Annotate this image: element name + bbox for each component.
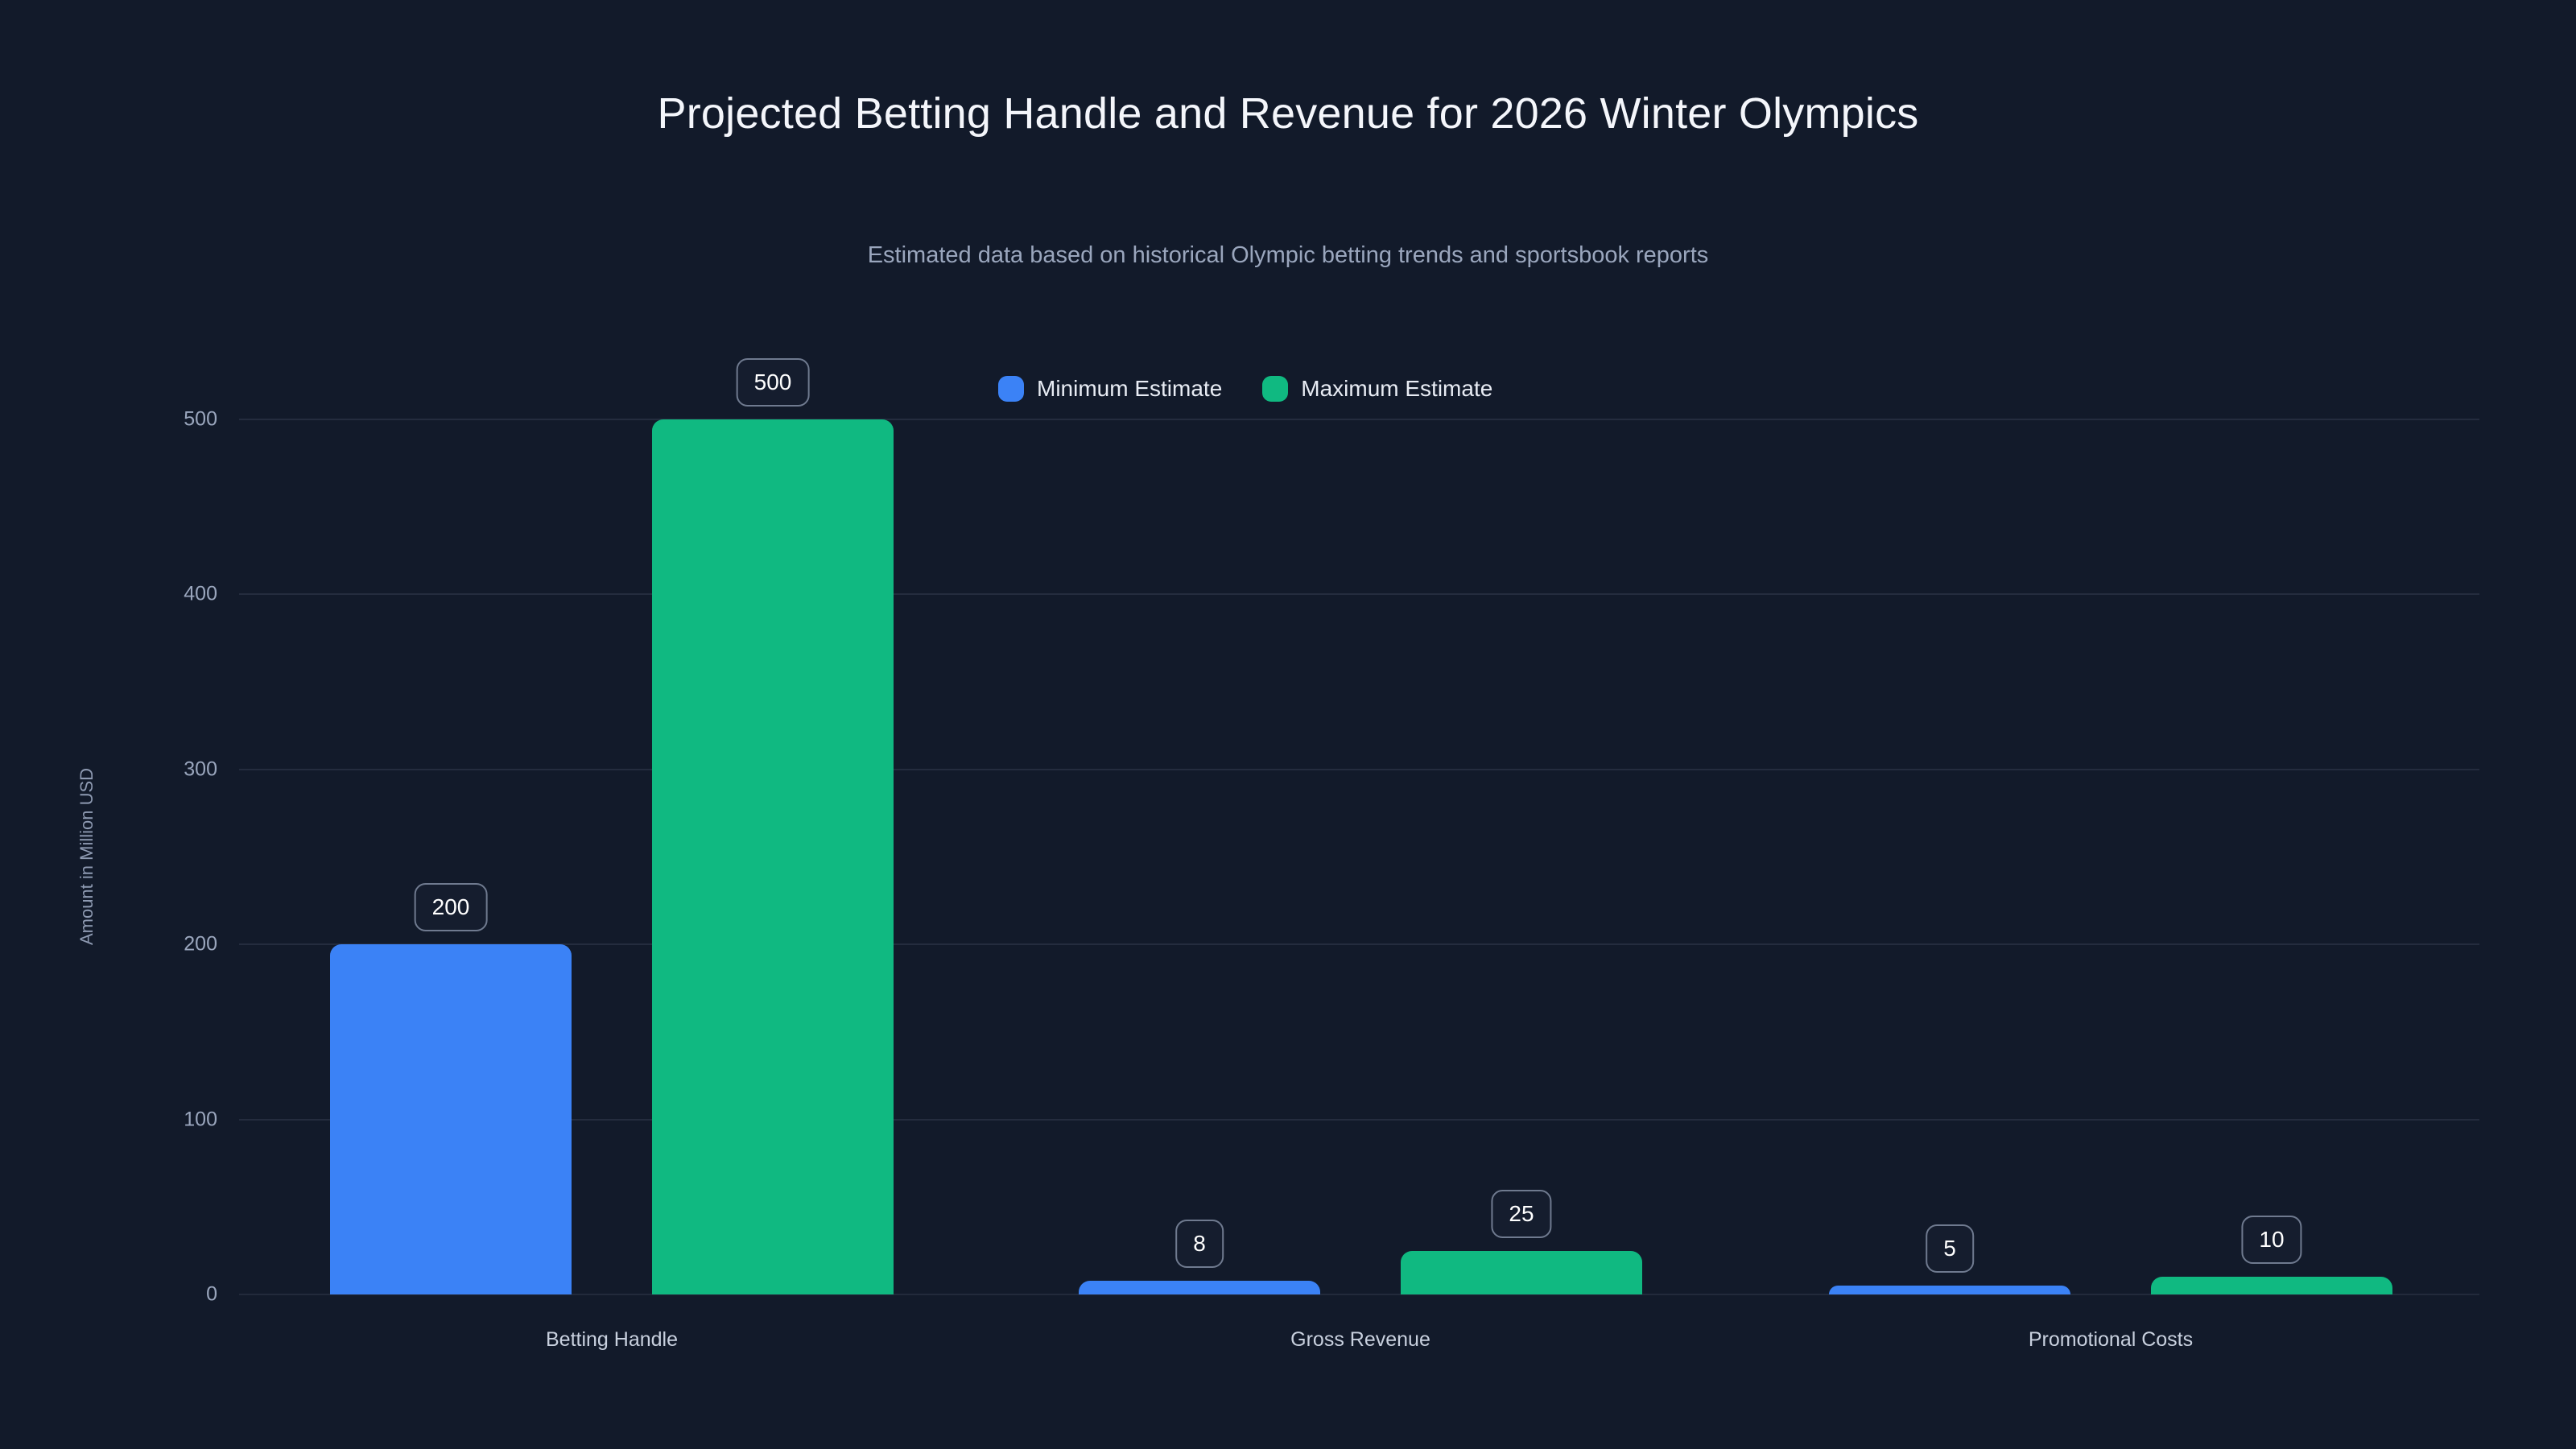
- bar-data-label: 25: [1491, 1190, 1551, 1238]
- legend-label-maximum: Maximum Estimate: [1301, 376, 1492, 402]
- legend-item-minimum[interactable]: Minimum Estimate: [998, 376, 1222, 402]
- y-axis-tick-label: 300: [89, 758, 217, 781]
- y-axis-tick-label: 100: [89, 1108, 217, 1131]
- gridline: [239, 419, 2479, 420]
- legend-swatch-maximum-icon: [1262, 376, 1288, 402]
- legend-item-maximum[interactable]: Maximum Estimate: [1262, 376, 1492, 402]
- y-axis-title: Amount in Million USD: [76, 768, 97, 945]
- gridline: [239, 943, 2479, 945]
- bar-chart-figure: Projected Betting Handle and Revenue for…: [0, 0, 2576, 1449]
- gridline: [239, 1294, 2479, 1295]
- x-axis-category-label: Betting Handle: [546, 1328, 678, 1352]
- bar-data-label: 500: [737, 358, 810, 407]
- bar-data-label: 8: [1175, 1220, 1224, 1268]
- y-axis-tick-label: 200: [89, 933, 217, 956]
- bar[interactable]: [2151, 1277, 2392, 1294]
- y-axis-tick-label: 0: [89, 1283, 217, 1307]
- plot-area: [239, 419, 2479, 1294]
- x-axis-category-label: Promotional Costs: [2029, 1328, 2193, 1352]
- gridline: [239, 593, 2479, 595]
- gridline: [239, 769, 2479, 770]
- bar[interactable]: [1829, 1286, 2070, 1294]
- gridline: [239, 1119, 2479, 1121]
- legend-swatch-minimum-icon: [998, 376, 1024, 402]
- bar[interactable]: [652, 419, 894, 1294]
- bar[interactable]: [330, 944, 572, 1294]
- y-axis-tick-label: 500: [89, 408, 217, 431]
- chart-legend: Minimum Estimate Maximum Estimate: [998, 372, 1492, 406]
- bar[interactable]: [1079, 1281, 1320, 1294]
- bar-data-label: 5: [1926, 1224, 1974, 1273]
- bar-data-label: 10: [2241, 1216, 2301, 1264]
- chart-title: Projected Betting Handle and Revenue for…: [0, 90, 2576, 138]
- legend-label-minimum: Minimum Estimate: [1037, 376, 1222, 402]
- chart-subtitle: Estimated data based on historical Olymp…: [0, 242, 2576, 270]
- bar[interactable]: [1401, 1251, 1642, 1294]
- bar-data-label: 200: [415, 883, 488, 931]
- x-axis-category-label: Gross Revenue: [1290, 1328, 1430, 1352]
- y-axis-tick-label: 400: [89, 583, 217, 606]
